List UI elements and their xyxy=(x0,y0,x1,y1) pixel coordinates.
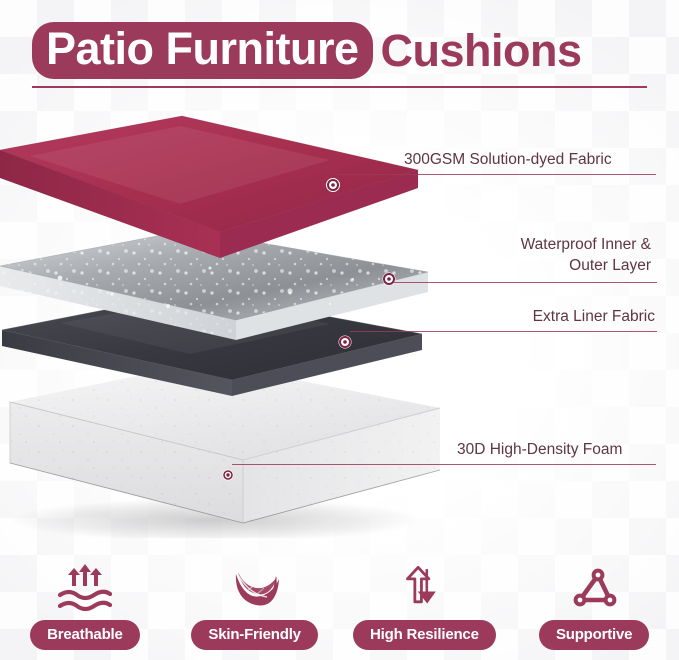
callout-fabric-line xyxy=(338,174,656,175)
callout-dot-icon xyxy=(325,177,341,193)
callout-waterproof-line xyxy=(394,282,657,283)
callout-dot-icon xyxy=(381,271,397,287)
callout-dot-icon xyxy=(221,468,235,482)
title-plain: Cushions xyxy=(381,28,582,74)
feature-supportive-label[interactable]: Supportive xyxy=(539,620,649,650)
callout-dot-icon xyxy=(337,334,353,350)
feature-breathable[interactable]: Breathable xyxy=(0,552,170,660)
callout-waterproof-label: Waterproof Inner & Outer Layer xyxy=(388,235,657,277)
triangle-nodes-icon xyxy=(568,560,620,612)
infographic-stage: Patio Furniture Cushions xyxy=(0,0,679,660)
header-divider xyxy=(32,86,647,88)
feature-breathable-label[interactable]: Breathable xyxy=(30,620,140,650)
callout-liner-label: Extra Liner Fabric xyxy=(344,307,657,328)
up-down-arrows-icon xyxy=(399,560,449,612)
header: Patio Furniture Cushions xyxy=(0,0,679,96)
title-badge: Patio Furniture xyxy=(32,22,373,79)
callout-waterproof: Waterproof Inner & Outer Layer xyxy=(388,236,657,283)
feather-icon xyxy=(226,560,284,612)
callout-liner-line xyxy=(350,331,657,332)
feature-skin-friendly-label[interactable]: Skin-Friendly xyxy=(191,620,317,650)
feature-high-resilience-label[interactable]: High Resilience xyxy=(353,620,496,650)
callout-liner: Extra Liner Fabric xyxy=(344,320,657,332)
feature-badges: Breathable Sk xyxy=(0,552,679,660)
callout-foam-label: 30D High-Density Foam xyxy=(457,440,657,461)
callout-foam-line xyxy=(232,464,656,465)
callout-fabric: 300GSM Solution-dyed Fabric xyxy=(332,162,657,175)
feature-supportive[interactable]: Supportive xyxy=(509,552,679,660)
feature-skin-friendly[interactable]: Skin-Friendly xyxy=(170,552,340,660)
fabric-layer xyxy=(0,116,418,258)
arrows-up-waves-icon xyxy=(54,560,116,612)
page-title: Patio Furniture Cushions xyxy=(32,22,582,79)
callout-foam: 30D High-Density Foam xyxy=(227,452,657,465)
feature-high-resilience[interactable]: High Resilience xyxy=(340,552,510,660)
callout-fabric-label: 300GSM Solution-dyed Fabric xyxy=(404,150,657,171)
